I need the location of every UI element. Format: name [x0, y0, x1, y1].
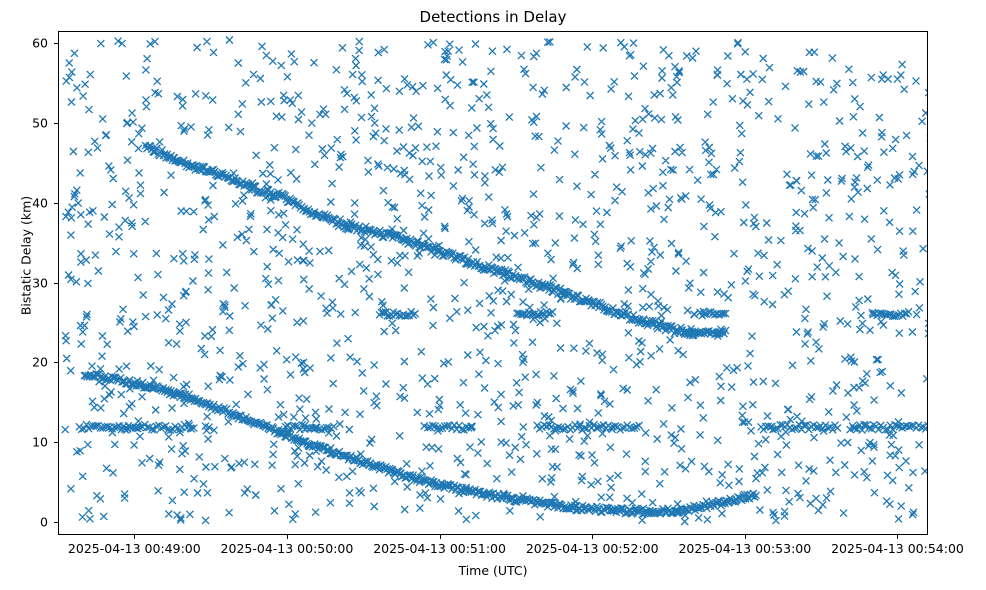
- x-ticklabel: 2025-04-13 00:49:00: [68, 541, 201, 556]
- page-title: Detections in Delay: [0, 8, 986, 26]
- marker-group: [62, 37, 928, 526]
- x-tick: [440, 535, 441, 539]
- y-tick: [54, 362, 58, 363]
- plot-area: [58, 31, 928, 535]
- x-ticklabel: 2025-04-13 00:50:00: [221, 541, 354, 556]
- x-tick: [897, 535, 898, 539]
- y-tick: [54, 123, 58, 124]
- y-tick: [54, 442, 58, 443]
- y-tick: [54, 522, 58, 523]
- x-ticklabel: 2025-04-13 00:53:00: [678, 541, 811, 556]
- x-ticklabel: 2025-04-13 00:52:00: [526, 541, 659, 556]
- x-tick: [134, 535, 135, 539]
- figure-canvas: Detections in Delay 2025-04-13 00:49:002…: [0, 0, 986, 590]
- y-tick: [54, 203, 58, 204]
- x-ticklabel: 2025-04-13 00:54:00: [831, 541, 964, 556]
- x-tick: [287, 535, 288, 539]
- x-axis-label: Time (UTC): [58, 563, 928, 578]
- x-ticklabel: 2025-04-13 00:51:00: [373, 541, 506, 556]
- x-tick: [745, 535, 746, 539]
- y-ticklabel: 60: [0, 35, 48, 50]
- y-ticklabel: 0: [0, 515, 48, 530]
- y-ticklabel: 10: [0, 435, 48, 450]
- scatter-layer: [59, 32, 928, 535]
- x-tick: [592, 535, 593, 539]
- y-axis-label: Bistatic Delay (km): [19, 96, 34, 416]
- y-tick: [54, 283, 58, 284]
- y-tick: [54, 43, 58, 44]
- scatter-markers: [62, 37, 928, 526]
